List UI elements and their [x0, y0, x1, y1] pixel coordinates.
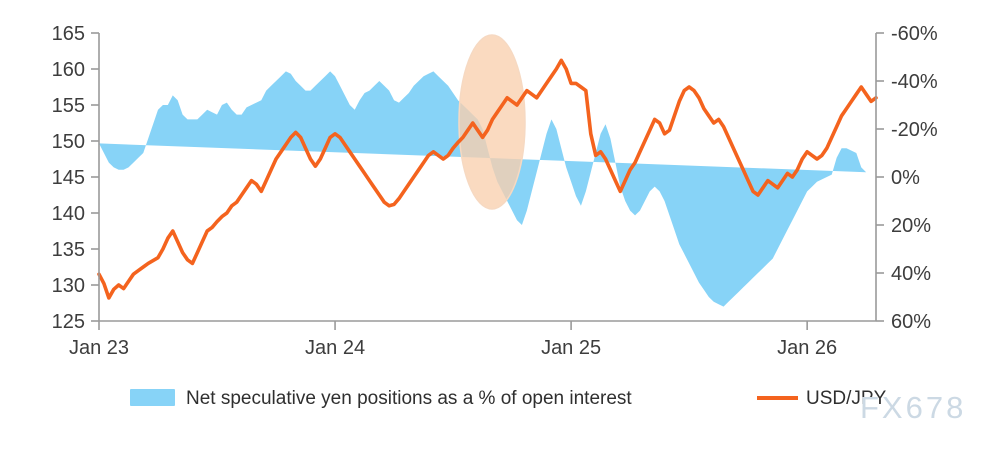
right-axis-tick-label: 0%	[891, 167, 920, 189]
left-axis-tick-label: 125	[52, 311, 85, 333]
chart-legend: Net speculative yen positions as a % of …	[130, 388, 887, 409]
legend-label-net-speculative-yen-positions: Net speculative yen positions as a % of …	[186, 388, 632, 409]
right-axis-tick-label: 60%	[891, 311, 931, 333]
left-axis-tick-label: 140	[52, 203, 85, 225]
left-axis-tick-label: 150	[52, 131, 85, 153]
x-axis-tick-label: Jan 25	[541, 337, 601, 359]
watermark-text: FX678	[860, 390, 966, 425]
left-axis-tick-label: 135	[52, 239, 85, 261]
x-axis-tick-label: Jan 24	[305, 337, 365, 359]
left-axis-tick-label: 165	[52, 23, 85, 45]
legend-swatch-net-speculative-yen-positions	[130, 389, 175, 406]
chart-container: 125130135140145150155160165 -60%-40%-20%…	[0, 0, 989, 452]
left-axis-tick-label: 155	[52, 95, 85, 117]
right-axis-tick-label: -20%	[891, 119, 938, 141]
right-axis-tick-label: -40%	[891, 71, 938, 93]
x-axis-tick-label: Jan 26	[777, 337, 837, 359]
usdjpy-speculative-positions-chart: 125130135140145150155160165 -60%-40%-20%…	[0, 0, 989, 452]
x-axis-ticks: Jan 23Jan 24Jan 25Jan 26	[69, 321, 837, 359]
right-axis-tick-label: 20%	[891, 215, 931, 237]
left-axis-ticks: 125130135140145150155160165	[52, 23, 99, 333]
x-axis-tick-label: Jan 23	[69, 337, 129, 359]
left-axis-tick-label: 130	[52, 275, 85, 297]
left-axis-tick-label: 160	[52, 59, 85, 81]
right-axis-tick-label: 40%	[891, 263, 931, 285]
right-axis-tick-label: -60%	[891, 23, 938, 45]
right-axis-ticks: -60%-40%-20%0%20%40%60%	[876, 23, 938, 333]
left-axis-tick-label: 145	[52, 167, 85, 189]
